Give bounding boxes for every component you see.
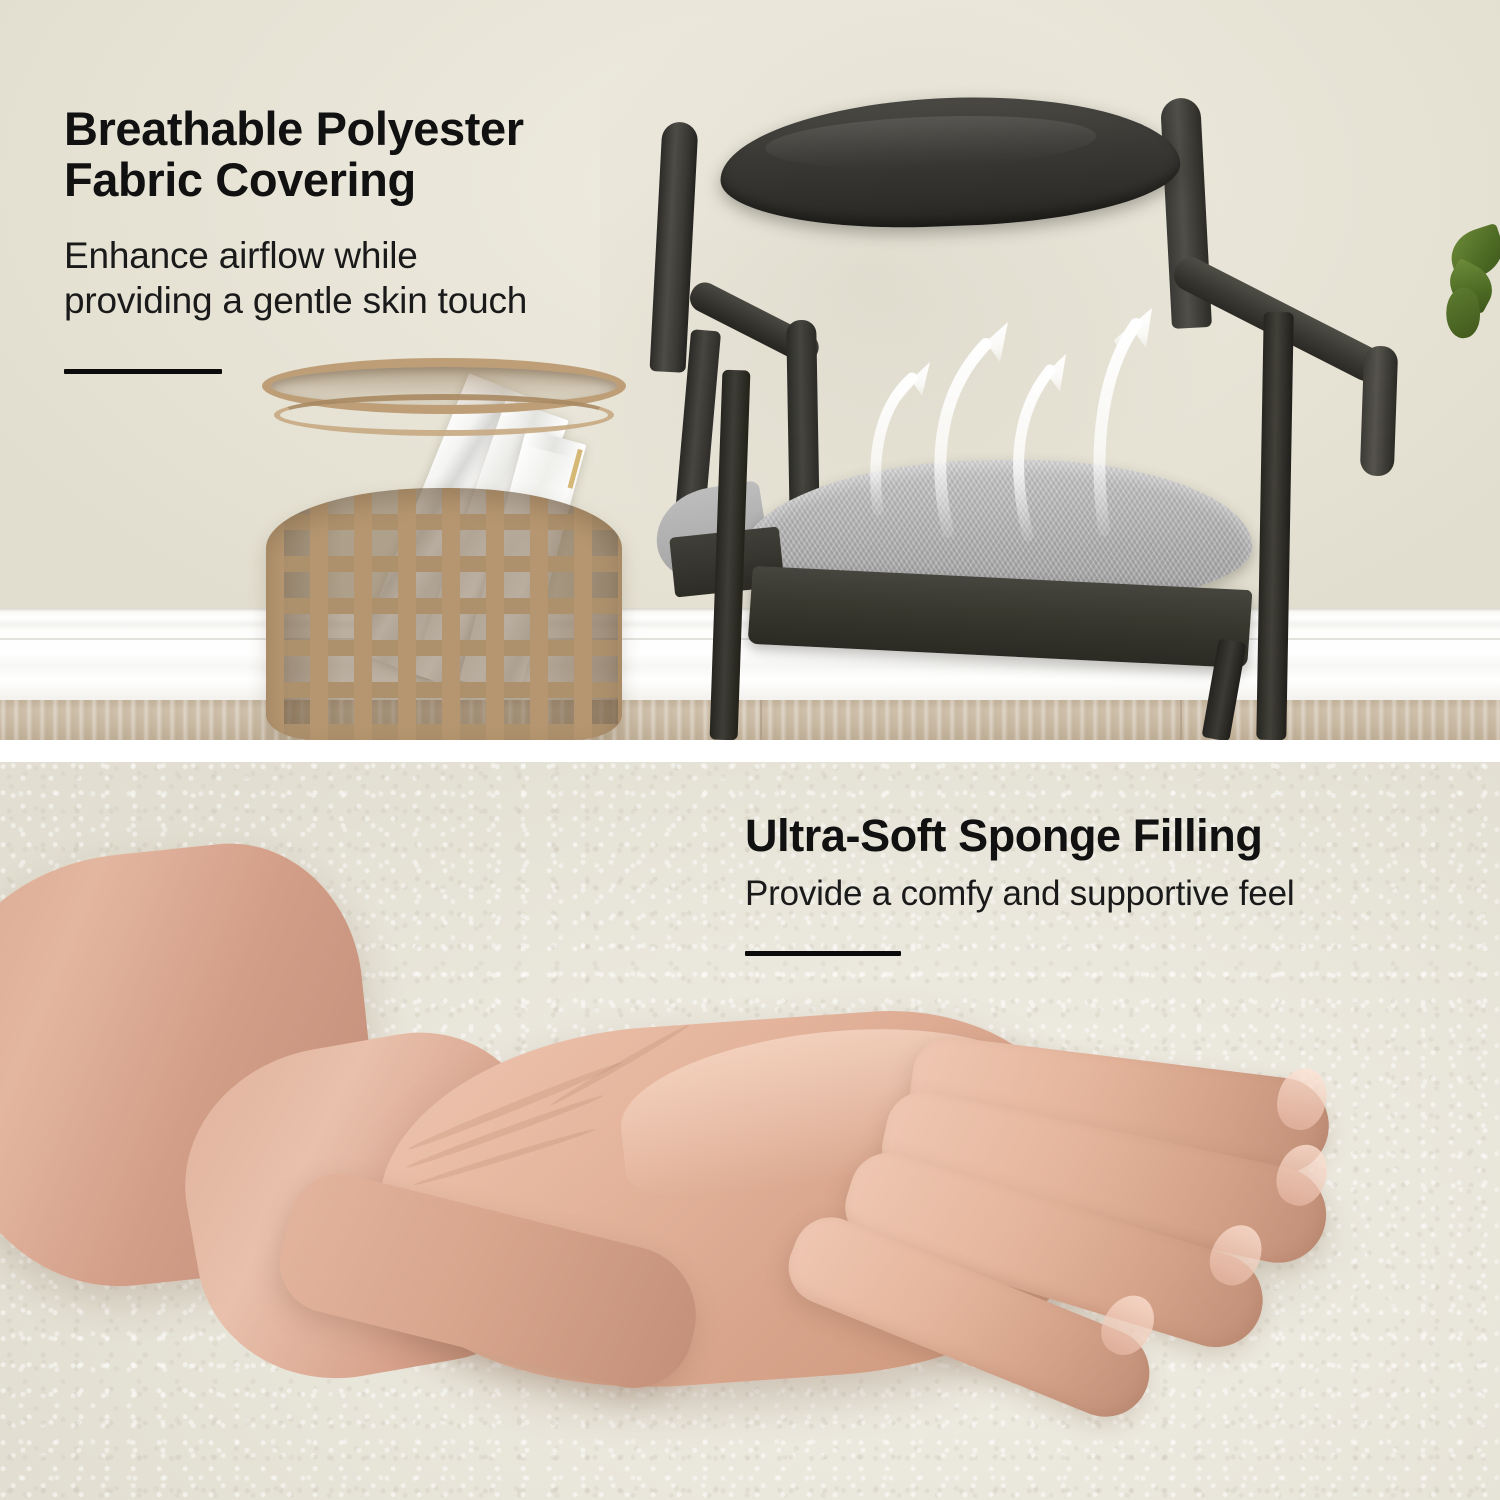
chair-armrest-right-post (1360, 345, 1399, 476)
bottom-text-block: Ultra-Soft Sponge Filling Provide a comf… (745, 812, 1435, 956)
bottom-accent-rule (745, 951, 901, 956)
chair-leg-front-right (1256, 312, 1293, 740)
top-accent-rule (64, 369, 222, 374)
panel-breathable-fabric: Breathable Polyester Fabric Covering Enh… (0, 0, 1500, 740)
airflow-arrow-3 (1019, 354, 1066, 536)
airflow-arrow-2 (940, 322, 1008, 532)
top-headline-line1: Breathable Polyester (64, 104, 664, 155)
rattan-basket-with-books (266, 368, 622, 740)
basket-inner-rim (274, 394, 614, 436)
airflow-arrows-svg (860, 300, 1160, 600)
top-subline-line2: providing a gentle skin touch (64, 278, 664, 323)
top-headline-line2: Fabric Covering (64, 155, 664, 206)
top-subline: Enhance airflow while providing a gentle… (64, 233, 664, 323)
top-text-block: Breathable Polyester Fabric Covering Enh… (64, 104, 664, 374)
top-subline-line1: Enhance airflow while (64, 233, 664, 278)
panel-divider (0, 740, 1500, 762)
airflow-arrow-1 (876, 362, 930, 510)
basket-body (266, 488, 622, 740)
marketing-infographic: Breathable Polyester Fabric Covering Enh… (0, 0, 1500, 1500)
bottom-headline: Ultra-Soft Sponge Filling (745, 812, 1435, 861)
top-headline: Breathable Polyester Fabric Covering (64, 104, 664, 206)
chair-backrest (718, 89, 1183, 235)
plant-leaf-decor (1420, 230, 1500, 350)
backrest-highlight (764, 110, 1097, 174)
airflow-arrows-group (860, 300, 1160, 600)
bottom-subline: Provide a comfy and supportive feel (745, 873, 1435, 916)
airflow-arrow-4 (1099, 308, 1152, 530)
